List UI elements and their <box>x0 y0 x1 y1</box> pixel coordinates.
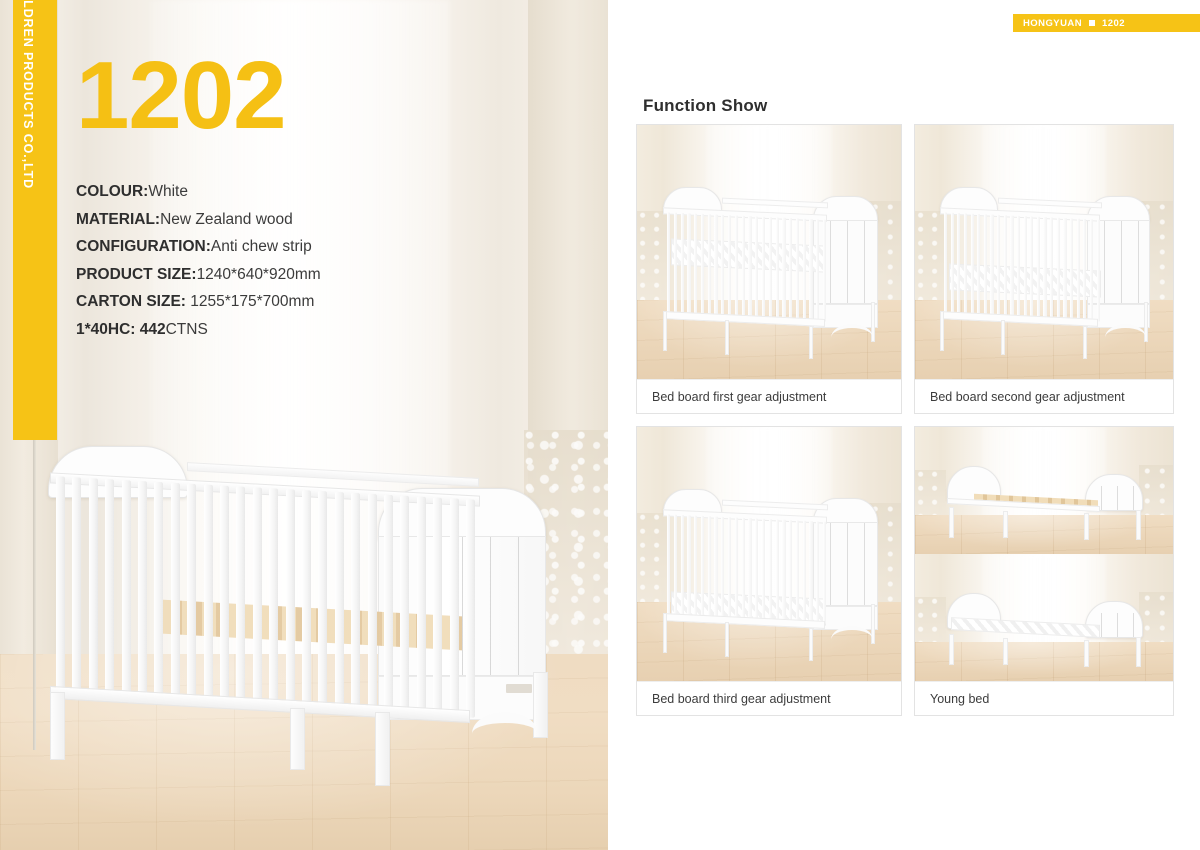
mini-crib-slat <box>708 516 711 619</box>
function-show-panel: HONGYUAN 1202 Function Show <box>608 0 1200 850</box>
mini-crib-slat <box>1050 217 1053 320</box>
mini-crib-slat <box>823 522 826 625</box>
function-show-grid: Bed board first gear adjustment <box>636 124 1174 716</box>
hero-crib-image <box>42 440 572 800</box>
mini-crib-leg <box>663 311 667 351</box>
spec-label: CONFIGURATION: <box>76 238 211 255</box>
mini-crib-slat <box>951 213 954 316</box>
mini-crib-slat <box>796 520 799 623</box>
spec-row-colour: COLOUR:White <box>76 178 321 206</box>
crib-slat <box>187 484 196 703</box>
crib-slat <box>204 485 213 704</box>
company-name-label: ANHUI HONGYUAN CHILDREN PRODUCTS CO.,LTD <box>21 0 35 189</box>
function-card-second-gear[interactable]: Bed board second gear adjustment <box>914 124 1174 414</box>
mini-crib-slat <box>958 213 961 316</box>
mini-crib-slat <box>1024 216 1027 319</box>
mini-crib-slat <box>708 214 711 317</box>
mini-crib <box>658 478 880 661</box>
badge-model-label: 1202 <box>1102 18 1125 29</box>
crib-slat <box>56 476 65 695</box>
spec-value: New Zealand wood <box>160 211 293 228</box>
photo-scene <box>915 125 1173 379</box>
crib-slat <box>154 482 163 701</box>
mini-crib-slat <box>1037 217 1040 320</box>
mini-crib-slat <box>755 216 758 319</box>
mini-crib-leg <box>809 326 813 359</box>
crib-photo-first-gear <box>637 125 901 379</box>
function-card-third-gear[interactable]: Bed board third gear adjustment <box>636 426 902 716</box>
mini-crib-slat <box>776 217 779 320</box>
photo-scene <box>637 427 901 681</box>
mini-crib-slats <box>667 514 827 624</box>
mini-crib-slat <box>1057 218 1060 321</box>
spec-value: 1255*175*700mm <box>186 293 314 310</box>
mini-crib-slat <box>971 214 974 317</box>
crib-slat <box>122 480 131 699</box>
mini-crib-slat <box>721 215 724 318</box>
mini-crib-leg <box>663 613 667 653</box>
mini-crib-slat <box>701 516 704 619</box>
spec-label: MATERIAL: <box>76 211 160 228</box>
model-number-title: 1202 <box>76 48 321 144</box>
mini-crib-slat <box>789 218 792 321</box>
spec-row-material: MATERIAL:New Zealand wood <box>76 206 321 234</box>
mini-crib-slat <box>687 515 690 618</box>
mini-crib-slat <box>748 518 751 621</box>
crib-slat <box>335 492 344 711</box>
crib-slat <box>138 481 147 700</box>
mini-crib-slat <box>681 213 684 316</box>
function-card-young-bed[interactable]: Young bed <box>914 426 1174 716</box>
mini-crib-slat <box>694 516 697 619</box>
crib-slat <box>105 479 114 698</box>
mini-crib <box>658 176 880 359</box>
spec-row-configuration: CONFIGURATION:Anti chew strip <box>76 233 321 261</box>
mini-crib-leg <box>1083 326 1087 359</box>
crib-slat <box>433 497 442 716</box>
mini-crib-slat <box>762 217 765 320</box>
mini-crib-slat <box>701 214 704 317</box>
crib-slat <box>400 496 409 715</box>
mini-crib-leg <box>725 622 729 657</box>
spec-row-loading-quantity: 1*40HC: 442CTNS <box>76 316 321 344</box>
banner-pole <box>33 440 36 750</box>
crib-leg <box>50 692 65 760</box>
hero-product-panel: ANHUI HONGYUAN CHILDREN PRODUCTS CO.,LTD… <box>0 0 608 850</box>
crib-slat <box>351 493 360 712</box>
mini-crib-slats <box>667 212 827 322</box>
photo-scene <box>915 554 1173 681</box>
crib-slat <box>220 485 229 704</box>
photo-scene <box>637 125 901 379</box>
badge-square-icon <box>1089 20 1095 26</box>
mini-crib-slat <box>735 517 738 620</box>
young-bed-leg <box>1003 511 1008 538</box>
spec-label: 1*40HC: 442 <box>76 321 166 338</box>
mini-crib-slat <box>977 214 980 317</box>
mini-crib-slat <box>789 520 792 623</box>
mini-crib-slat <box>816 521 819 624</box>
badge-brand-label: HONGYUAN <box>1023 18 1082 29</box>
crib-slat <box>450 498 459 717</box>
mini-crib-slat <box>796 218 799 321</box>
mini-crib-slat <box>667 212 670 315</box>
spec-value: CTNS <box>166 321 208 338</box>
mini-crib-slat <box>1017 216 1020 319</box>
mini-crib-slat <box>755 518 758 621</box>
mini-crib-leg <box>809 628 813 661</box>
spec-value: 1240*640*920mm <box>197 266 321 283</box>
crib-leg <box>375 712 390 786</box>
spec-value: White <box>148 183 188 200</box>
mini-crib-slat <box>769 519 772 622</box>
spec-row-carton-size: CARTON SIZE: 1255*175*700mm <box>76 288 321 316</box>
mini-crib-slat <box>1090 219 1093 322</box>
mini-crib-far-rail <box>722 499 828 510</box>
mini-crib-slat <box>714 517 717 620</box>
mini-crib-slat <box>1011 215 1014 318</box>
mini-crib-slat <box>809 219 812 322</box>
header-brand-badge: HONGYUAN 1202 <box>1013 14 1200 32</box>
specification-list: COLOUR:White MATERIAL:New Zealand wood C… <box>76 178 321 343</box>
crib-slat <box>236 486 245 705</box>
crib-photo-third-gear <box>637 427 901 681</box>
mini-crib-slat <box>1044 217 1047 320</box>
mini-crib-slat <box>742 518 745 621</box>
spec-label: COLOUR: <box>76 183 148 200</box>
crib-slat <box>171 483 180 702</box>
crib-brand-plate <box>506 684 532 693</box>
mini-crib-slat <box>816 219 819 322</box>
spec-value: Anti chew strip <box>211 238 312 255</box>
mini-crib-slat <box>964 213 967 316</box>
mini-crib-slat <box>984 214 987 317</box>
mini-crib-slat <box>997 215 1000 318</box>
mini-crib-leg <box>940 311 944 351</box>
crib-leg <box>290 708 305 770</box>
mini-crib-slat <box>991 215 994 318</box>
young-bed-leg <box>949 507 954 538</box>
company-name-banner: ANHUI HONGYUAN CHILDREN PRODUCTS CO.,LTD <box>13 0 57 440</box>
mini-crib-slat <box>1084 219 1087 322</box>
crib-slat <box>318 491 327 710</box>
mini-crib-far-rail <box>722 197 828 208</box>
mini-crib-slat <box>721 517 724 620</box>
mini-crib-slat <box>1004 215 1007 318</box>
young-bed-photo-slat-base <box>915 427 1173 554</box>
mini-crib-slat <box>1064 218 1067 321</box>
crib-photo-second-gear <box>915 125 1173 379</box>
spec-label: CARTON SIZE: <box>76 293 186 310</box>
young-bed-leg <box>949 634 954 665</box>
crib-slat <box>89 478 98 697</box>
mini-crib-slat <box>803 219 806 322</box>
mini-crib-slat <box>748 216 751 319</box>
mini-crib-slat <box>714 215 717 318</box>
mini-crib-leg <box>1001 320 1005 355</box>
mini-crib-slat <box>687 213 690 316</box>
mini-crib-slat <box>823 220 826 323</box>
crib-slats <box>56 476 476 717</box>
crib-slat <box>253 487 262 706</box>
mini-crib-slat <box>944 212 947 315</box>
crib-slat <box>72 477 81 696</box>
mini-crib-slat <box>735 215 738 318</box>
young-bed-leg <box>1084 640 1089 667</box>
mini-crib-slat <box>782 520 785 623</box>
mini-crib-slat <box>803 521 806 624</box>
mini-crib-slat <box>742 216 745 319</box>
crib-slat <box>286 489 295 708</box>
mini-crib-slat <box>694 214 697 317</box>
mini-crib-slat <box>809 521 812 624</box>
mini-crib-slat <box>674 515 677 618</box>
mini-crib-slat <box>674 213 677 316</box>
young-bed-photo-with-mattress <box>915 554 1173 681</box>
crib-slat <box>384 495 393 714</box>
crib-slat <box>466 499 475 718</box>
spec-label: PRODUCT SIZE: <box>76 266 197 283</box>
mini-crib-slat <box>762 519 765 622</box>
card-caption: Young bed <box>915 681 1173 715</box>
mini-crib-far-rail <box>998 197 1102 208</box>
card-caption: Bed board third gear adjustment <box>637 681 901 715</box>
mini-crib-slat <box>1097 220 1100 323</box>
young-bed-leg <box>1136 510 1141 540</box>
section-title: Function Show <box>643 96 767 116</box>
mini-crib-slat <box>1070 218 1073 321</box>
mini-crib-slat <box>769 217 772 320</box>
card-caption: Bed board first gear adjustment <box>637 379 901 413</box>
card-caption: Bed board second gear adjustment <box>915 379 1173 413</box>
crib-slat <box>269 488 278 707</box>
function-card-first-gear[interactable]: Bed board first gear adjustment <box>636 124 902 414</box>
mini-crib-slat <box>667 514 670 617</box>
mini-crib-slat <box>782 218 785 321</box>
mini-crib-slat <box>1030 216 1033 319</box>
mini-crib-slats <box>944 212 1100 322</box>
crib-slat <box>302 490 311 709</box>
young-bed-leg <box>1136 637 1141 667</box>
spec-row-product-size: PRODUCT SIZE:1240*640*920mm <box>76 261 321 289</box>
crib-slat <box>417 496 426 715</box>
photo-scene <box>915 427 1173 554</box>
mini-crib-slat <box>1077 219 1080 322</box>
young-bed <box>941 463 1147 542</box>
young-bed-leg <box>1003 638 1008 665</box>
mini-crib-slat <box>681 515 684 618</box>
crib-slat <box>368 494 377 713</box>
mini-crib-slat <box>728 517 731 620</box>
young-bed-mattress <box>951 617 1100 638</box>
mini-crib-slat <box>776 519 779 622</box>
mini-crib-slat <box>728 215 731 318</box>
young-bed <box>941 590 1147 669</box>
hero-text-block: 1202 COLOUR:White MATERIAL:New Zealand w… <box>76 48 321 343</box>
mini-crib-leg <box>725 320 729 355</box>
young-bed-leg <box>1084 513 1089 540</box>
mini-crib <box>936 176 1153 359</box>
